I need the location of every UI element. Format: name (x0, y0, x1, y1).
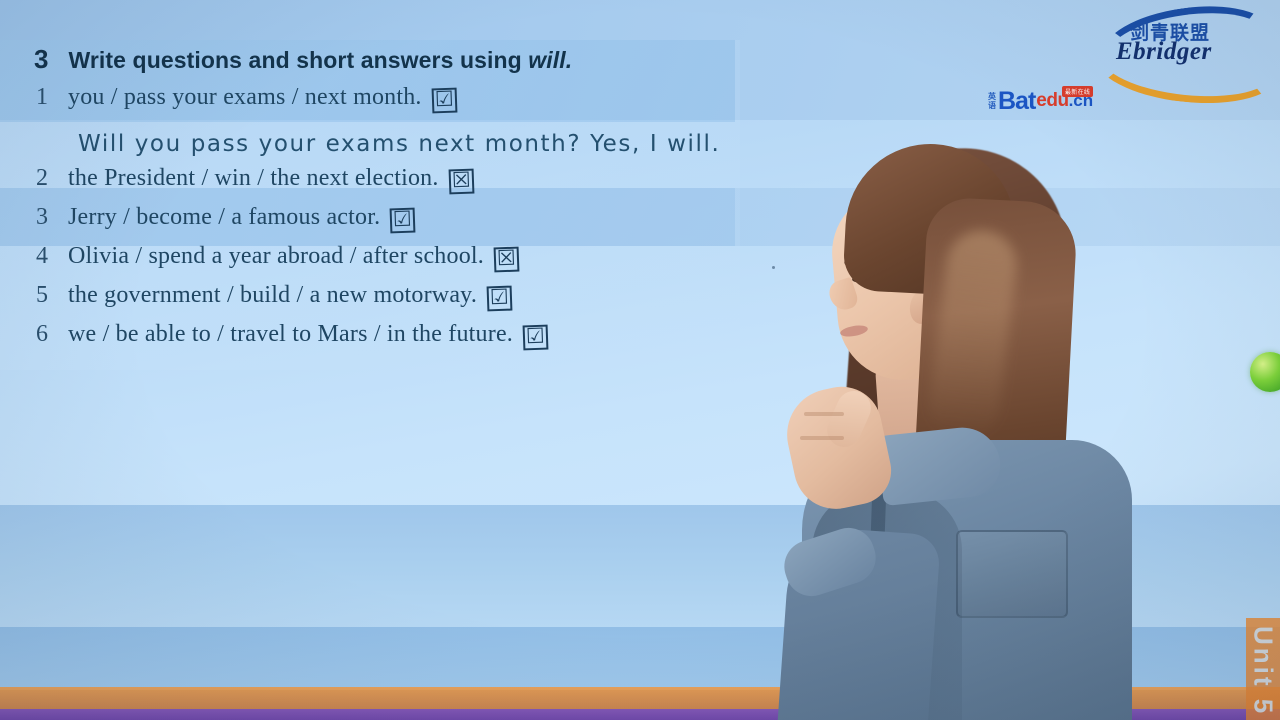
batedu-wordmark: Bat (998, 87, 1035, 116)
item-text: Jerry / become / a famous actor.☑ (68, 204, 415, 233)
checkbox-tick-icon: ☑ (431, 88, 457, 114)
item-number: 3 (36, 204, 52, 231)
exercise-number: 3 (34, 44, 48, 75)
exercise-item-6: 6 we / be able to / travel to Mars / in … (0, 321, 780, 360)
exercise-item-4: 4 Olivia / spend a year abroad / after s… (0, 243, 780, 282)
item-number: 5 (36, 282, 52, 309)
video-frame: 3 Write questions and short answers usin… (0, 0, 1280, 720)
exercise-item-1: 1 you / pass your exams / next month.☑ (0, 84, 780, 123)
checkbox-tick-icon: ☑ (390, 208, 416, 234)
checkbox-tick-icon: ☑ (487, 286, 513, 312)
item-text: Olivia / spend a year abroad / after sch… (68, 243, 519, 272)
presenter-knuckle-line (800, 436, 844, 440)
checkbox-cross-icon: ☒ (494, 247, 520, 273)
presenter-shirt-pocket (956, 530, 1068, 618)
item-prompt: Olivia / spend a year abroad / after sch… (68, 243, 484, 269)
item-text: the President / win / the next election.… (68, 165, 474, 194)
presenter-knuckle-line (804, 412, 844, 416)
presenter-figure (760, 130, 1190, 720)
item-number: 4 (36, 243, 52, 270)
item-text: we / be able to / travel to Mars / in th… (68, 321, 548, 350)
unit-watermark-label: Unit 5 (1248, 626, 1279, 716)
exercise-instruction-text: Write questions and short answers using (68, 47, 528, 73)
item-prompt: the President / win / the next election. (68, 165, 439, 191)
exercise-content: 3 Write questions and short answers usin… (0, 44, 780, 360)
exercise-item-2: 2 the President / win / the next electio… (0, 165, 780, 204)
exercise-item-3: 3 Jerry / become / a famous actor.☑ (0, 204, 780, 243)
item-prompt: you / pass your exams / next month. (68, 84, 422, 110)
exercise-heading: 3 Write questions and short answers usin… (0, 44, 780, 84)
item-text: the government / build / a new motorway.… (68, 282, 512, 311)
exercise-item-5: 5 the government / build / a new motorwa… (0, 282, 780, 321)
item-prompt: we / be able to / travel to Mars / in th… (68, 321, 513, 347)
batedu-logo: 英 语 Bat edu .cn 最新在线 (988, 84, 1120, 118)
unit-watermark: Unit 5 (1248, 624, 1278, 718)
exercise-handwritten-answer: Will you pass your exams next month? Yes… (0, 123, 780, 165)
checkbox-tick-icon: ☑ (523, 325, 549, 351)
item-text: you / pass your exams / next month.☑ (68, 84, 457, 113)
exercise-instruction: Write questions and short answers using … (68, 47, 572, 74)
ebridger-logo-english: Ebridger (1116, 38, 1212, 66)
ebridger-logo: 剑青联盟 Ebridger (1088, 2, 1274, 74)
item-number: 6 (36, 321, 52, 348)
item-number: 2 (36, 165, 52, 192)
batedu-chinese-stack: 英 语 (988, 92, 996, 110)
answer-text: Will you pass your exams next month? Yes… (78, 131, 720, 157)
item-prompt: the government / build / a new motorway. (68, 282, 477, 308)
checkbox-cross-icon: ☒ (448, 169, 474, 195)
dust-speck (772, 266, 775, 269)
item-number: 1 (36, 84, 52, 111)
batedu-ribbon-badge: 最新在线 (1062, 86, 1093, 97)
batedu-chinese-top: 英 (988, 92, 996, 101)
exercise-instruction-keyword: will. (528, 47, 572, 73)
item-prompt: Jerry / become / a famous actor. (68, 204, 380, 230)
batedu-chinese-bottom: 语 (988, 101, 996, 110)
